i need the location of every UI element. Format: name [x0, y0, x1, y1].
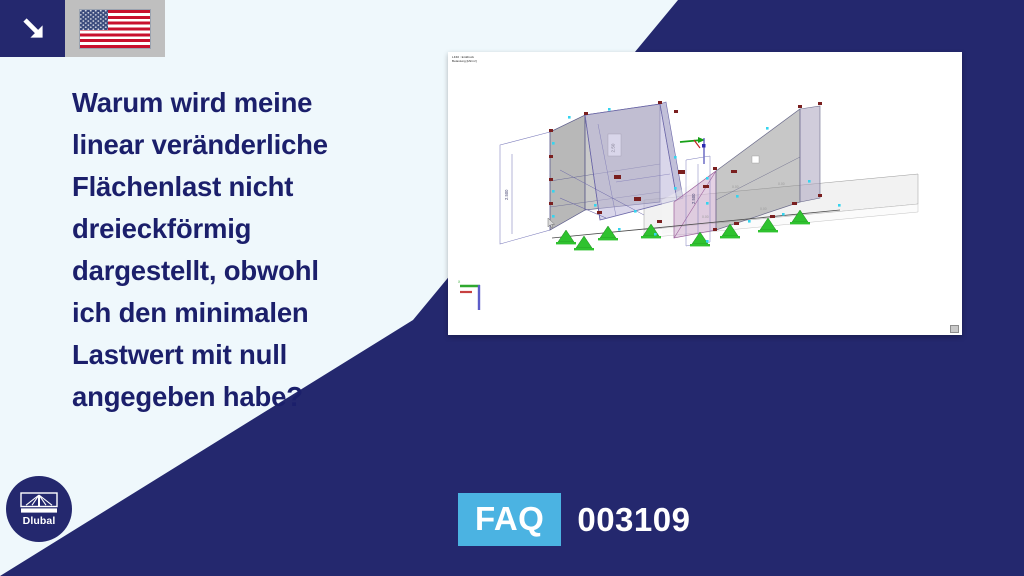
- headline-line: angegeben habe?: [72, 376, 412, 418]
- rfem-screenshot-window[interactable]: LF40 : ErddruckBelastung [kN/m²] 2.500: [448, 52, 962, 335]
- dlubal-logo[interactable]: Dlubal: [6, 476, 72, 542]
- page-title: Warum wird meine linear veränderliche Fl…: [72, 82, 412, 418]
- svg-text:X: X: [458, 280, 461, 284]
- nodal-support-icon: [574, 236, 594, 250]
- flag-stars: [80, 10, 108, 30]
- svg-text:0.00: 0.00: [778, 182, 785, 186]
- load-arrow-indicator: [680, 137, 706, 164]
- faq-number: 003109: [577, 501, 690, 539]
- headline-line: ich den minimalen: [72, 292, 412, 334]
- left-reference-frame: 2.500: [500, 132, 550, 244]
- us-flag-icon: [80, 10, 150, 48]
- dlubal-bridge-icon: [20, 492, 58, 514]
- arrow-down-right-icon[interactable]: [20, 15, 48, 43]
- faq-badge-row: FAQ 003109: [458, 493, 690, 546]
- headline-line: linear veränderliche: [72, 124, 412, 166]
- headline-line: Lastwert mit null: [72, 334, 412, 376]
- headline-line: Warum wird meine: [72, 82, 412, 124]
- headline-line: Flächenlast nicht: [72, 166, 412, 208]
- window-resize-grip[interactable]: [950, 325, 959, 333]
- svg-text:0.00: 0.00: [702, 215, 709, 219]
- headline-line: dargestellt, obwohl: [72, 250, 412, 292]
- dlubal-logo-text: Dlubal: [23, 516, 56, 527]
- svg-text:2.500: 2.500: [504, 189, 509, 200]
- svg-text:0.00: 0.00: [760, 207, 767, 211]
- rfem-model-viewport[interactable]: 2.500 2.50: [448, 52, 962, 335]
- headline-line: dreieckförmig: [72, 208, 412, 250]
- coordinate-axes-icon: X: [458, 280, 480, 310]
- slide-canvas: Warum wird meine linear veränderliche Fl…: [0, 0, 1024, 576]
- language-selector[interactable]: [65, 0, 165, 57]
- svg-text:2.500: 2.500: [691, 193, 696, 204]
- faq-label-chip: FAQ: [458, 493, 561, 546]
- svg-text:0.00: 0.00: [732, 185, 739, 189]
